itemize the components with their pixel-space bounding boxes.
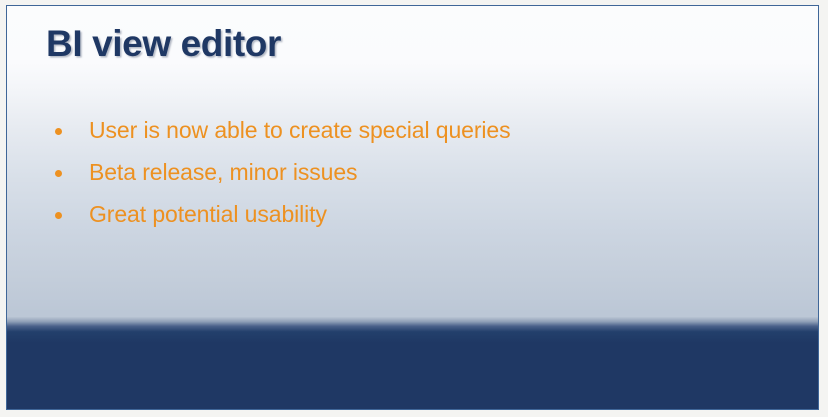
bullet-text: Great potential usability — [89, 202, 327, 227]
list-item[interactable]: Great potential usability — [46, 194, 746, 236]
slide-title: BI view editor — [46, 23, 281, 66]
presentation-slide[interactable]: BI view editor User is now able to creat… — [6, 5, 819, 410]
bullet-text: User is now able to create special queri… — [89, 118, 511, 143]
list-item[interactable]: User is now able to create special queri… — [46, 110, 746, 152]
slide-canvas: BI view editor User is now able to creat… — [0, 0, 828, 417]
bullet-list: User is now able to create special queri… — [46, 110, 746, 236]
bullet-dot-icon — [55, 212, 62, 219]
bullet-dot-icon — [55, 128, 62, 135]
bullet-dot-icon — [55, 170, 62, 177]
bullet-text: Beta release, minor issues — [89, 160, 357, 185]
list-item[interactable]: Beta release, minor issues — [46, 152, 746, 194]
slide-footer-band — [7, 317, 818, 409]
